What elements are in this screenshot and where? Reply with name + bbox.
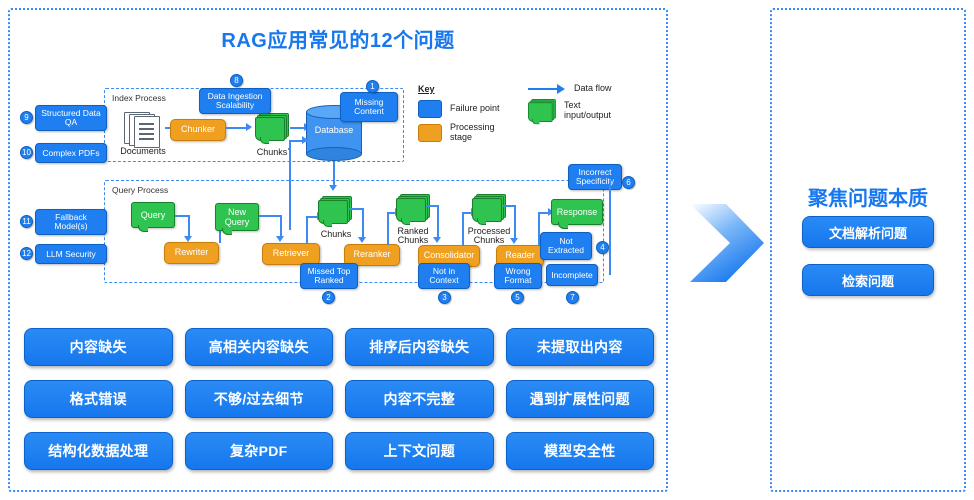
missing-content-node[interactable]: Missing Content [340, 92, 398, 122]
documents-label: Documents [112, 146, 174, 158]
issue-button-5[interactable]: 不够/过去细节 [185, 380, 334, 418]
chunks-index-icon [255, 113, 289, 141]
feedback-loop-v [609, 180, 611, 275]
text-io-icon [528, 99, 556, 123]
missed-top-ranked-node[interactable]: Missed Top Ranked [300, 263, 358, 289]
arrow-ranked-consolidator [433, 237, 441, 243]
llm-security-node[interactable]: LLM Security [35, 244, 107, 264]
data-ingestion-scalability-node[interactable]: Data Ingestion Scalability [199, 88, 271, 114]
fallback-models-node[interactable]: Fallback Model(s) [35, 209, 107, 235]
badge-8: 8 [230, 74, 243, 87]
ranked-chunks-label: Ranked Chunks [384, 225, 442, 247]
key-legend: Key Failure point Processing stage Data … [418, 84, 593, 148]
issue-button-7[interactable]: 遇到扩展性问题 [506, 380, 655, 418]
arrow-processed-reader [510, 238, 518, 244]
connector-chunks-reranker-v [362, 208, 364, 240]
issue-button-10[interactable]: 上下文问题 [345, 432, 494, 470]
issue-grid: 内容缺失 高相关内容缺失 排序后内容缺失 未提取出内容 格式错误 不够/过去细节… [24, 328, 654, 470]
wrong-format-node[interactable]: Wrong Format [494, 263, 542, 289]
complex-pdfs-node[interactable]: Complex PDFs [35, 143, 107, 163]
issue-button-3[interactable]: 未提取出内容 [506, 328, 655, 366]
issue-button-6[interactable]: 内容不完整 [345, 380, 494, 418]
badge-4: 4 [596, 241, 609, 254]
issue-button-8[interactable]: 结构化数据处理 [24, 432, 173, 470]
data-flow-arrow-icon [528, 84, 566, 94]
connector-ranked-consolidator-v [437, 205, 439, 240]
focus-button-1[interactable]: 检索问题 [802, 264, 934, 296]
badge-11: 11 [20, 215, 33, 228]
rewriter-node[interactable]: Rewriter [164, 242, 219, 264]
query-process-label: Query Process [112, 185, 168, 195]
key-right-column: Data flow Text input/output [528, 84, 618, 128]
not-extracted-node[interactable]: Not Extracted [540, 232, 592, 260]
data-flow-label: Data flow [574, 84, 612, 94]
issue-button-2[interactable]: 排序后内容缺失 [345, 328, 494, 366]
key-row-text-io: Text input/output [528, 99, 618, 123]
text-io-label: Text input/output [564, 101, 616, 121]
processing-stage-swatch [418, 124, 442, 142]
chunks-query-label: Chunks [308, 229, 364, 241]
documents-icon [124, 112, 162, 150]
badge-7: 7 [566, 291, 579, 304]
incorrect-specificity-node[interactable]: Incorrect Specificity [568, 164, 622, 190]
retriever-db-link-v [289, 140, 291, 230]
failure-point-swatch [418, 100, 442, 118]
badge-2: 2 [322, 291, 335, 304]
issue-button-1[interactable]: 高相关内容缺失 [185, 328, 334, 366]
slide-canvas: RAG应用常见的12个问题 Index Process Query Proces… [0, 0, 974, 500]
incomplete-node[interactable]: Incomplete [546, 264, 598, 286]
issue-button-0[interactable]: 内容缺失 [24, 328, 173, 366]
page-title: RAG应用常见的12个问题 [8, 24, 668, 53]
structured-data-qa-node[interactable]: Structured Data QA [35, 105, 107, 131]
key-row-data-flow: Data flow [528, 84, 618, 94]
right-panel [770, 8, 966, 492]
transition-arrow-icon [686, 202, 766, 284]
arrow-chunker-chunks [246, 123, 252, 131]
issue-button-11[interactable]: 模型安全性 [506, 432, 655, 470]
arrow-chunks-reranker [358, 237, 366, 243]
connector-newquery-retriever-h [259, 215, 281, 217]
issue-button-9[interactable]: 复杂PDF [185, 432, 334, 470]
index-process-label: Index Process [112, 93, 166, 103]
processed-chunks-icon [472, 194, 506, 222]
connector-chunks-reranker-h [349, 208, 363, 210]
processing-stage-label: Processing stage [450, 123, 508, 143]
connector-query-rewriter-h [175, 215, 189, 217]
focus-button-0[interactable]: 文档解析问题 [802, 216, 934, 248]
ranked-chunks-icon [396, 194, 430, 222]
issue-button-4[interactable]: 格式错误 [24, 380, 173, 418]
badge-9: 9 [20, 111, 33, 124]
badge-10: 10 [20, 146, 33, 159]
chunker-node[interactable]: Chunker [170, 119, 226, 141]
connector-processed-reader-v [514, 205, 516, 241]
connector-reader-response-v [538, 212, 540, 246]
focus-title: 聚焦问题本质 [770, 182, 966, 211]
new-query-node[interactable]: New Query [215, 203, 259, 231]
arrow-newquery-retriever [276, 236, 284, 242]
badge-5: 5 [511, 291, 524, 304]
failure-point-label: Failure point [450, 104, 500, 114]
arrow-db-down [329, 185, 337, 191]
chunks-query-icon [318, 196, 352, 224]
chunks-index-label: Chunks [244, 147, 300, 159]
badge-1: 1 [366, 80, 379, 93]
badge-3: 3 [438, 291, 451, 304]
badge-12: 12 [20, 247, 33, 260]
retriever-node[interactable]: Retriever [262, 243, 320, 265]
not-in-context-node[interactable]: Not in Context [418, 263, 470, 289]
arrow-retriever-db [302, 136, 308, 144]
query-node[interactable]: Query [131, 202, 175, 228]
badge-6: 6 [622, 176, 635, 189]
database-label: Database [306, 125, 362, 135]
connector-db-down [333, 161, 335, 188]
response-node[interactable]: Response [551, 199, 603, 225]
